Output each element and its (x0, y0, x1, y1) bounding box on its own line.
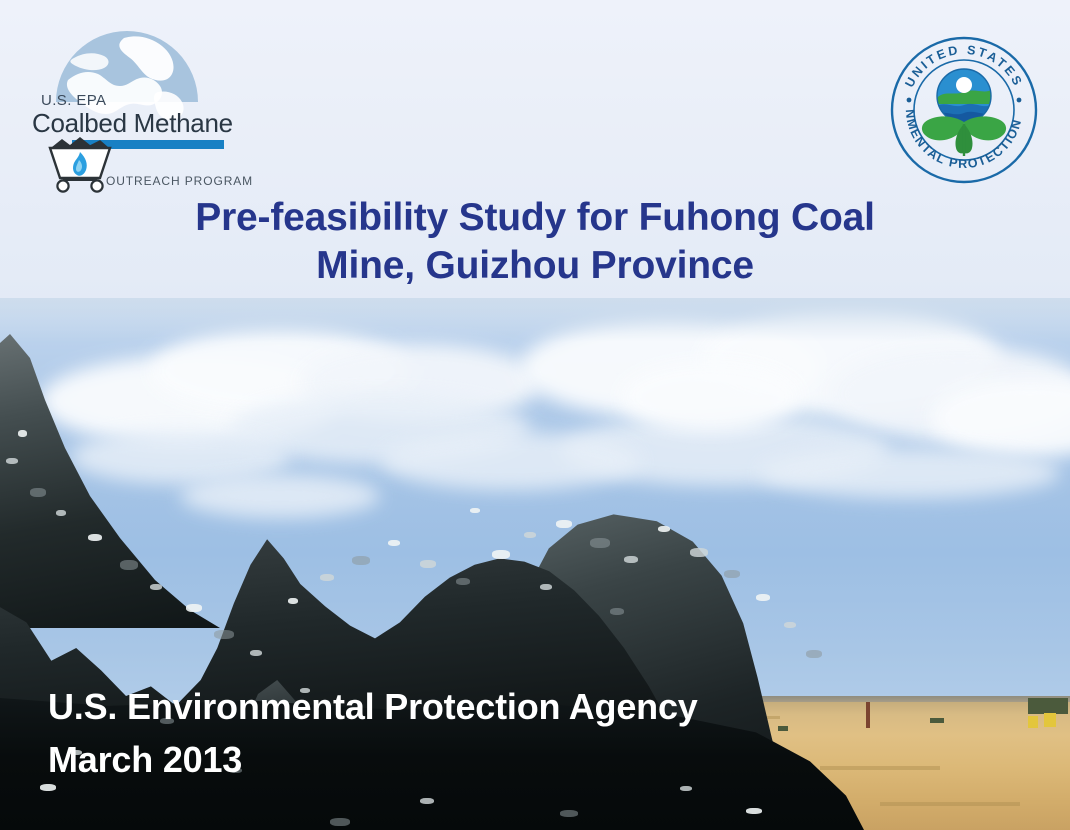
distant-structure (1028, 698, 1068, 714)
coal-cart-flame-icon (36, 132, 126, 194)
utility-post (866, 702, 870, 728)
footer-organization: U.S. Environmental Protection Agency (48, 680, 698, 733)
mining-equipment-yellow (1044, 713, 1056, 727)
cmop-subtitle: OUTREACH PROGRAM (106, 174, 253, 188)
presentation-title-slide: U.S. EPA Coalbed Methane OUTREACH PROGRA… (0, 0, 1070, 830)
footer-date: March 2013 (48, 733, 698, 786)
slide-title-line-2: Mine, Guizhou Province (60, 242, 1010, 290)
slide-title-line-1: Pre-feasibility Study for Fuhong Coal (60, 194, 1010, 242)
cmop-eyebrow: U.S. EPA (41, 92, 106, 109)
mining-equipment-yellow-2 (1028, 716, 1038, 728)
photo-top-fade (0, 298, 1070, 342)
slide-title: Pre-feasibility Study for Fuhong Coal Mi… (60, 194, 1010, 290)
cmop-logo: U.S. EPA Coalbed Methane OUTREACH PROGRA… (24, 28, 240, 188)
slide-footer: U.S. Environmental Protection Agency Mar… (48, 680, 698, 786)
epa-seal-icon: UNITED STATES ENVIRONMENTAL PROTECTION A… (884, 30, 1044, 190)
